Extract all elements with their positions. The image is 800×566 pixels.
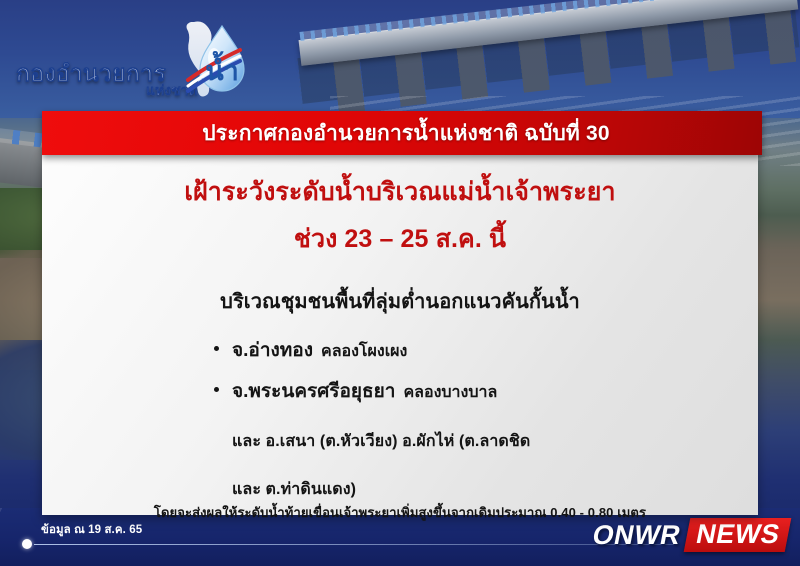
brand-news: NEWS bbox=[684, 518, 792, 552]
onwr-emblem: กองอำนวยการ แห่งชาติ bbox=[14, 22, 254, 108]
footer-dot-icon bbox=[22, 539, 32, 549]
brand-onwr: ONWR bbox=[590, 520, 691, 551]
affected-areas-list: จ.อ่างทอง คลองโผงเผง จ.พระนครศรีอยุธยา ค… bbox=[214, 335, 530, 502]
headline-line-2: ช่วง 23 – 25 ส.ค. นี้ bbox=[294, 219, 506, 259]
continuation-line-2: และ ต.ท่าดินแดง) bbox=[232, 477, 530, 502]
list-item: จ.พระนครศรีอยุธยา คลองบางบาล bbox=[214, 376, 530, 406]
place-name: คลองโผงเผง bbox=[321, 339, 407, 364]
province-name: จ.พระนครศรีอยุธยา bbox=[232, 376, 395, 406]
footer-divider bbox=[34, 544, 674, 545]
subheading: บริเวณชุมชนพื้นที่ลุ่มต่ำนอกแนวคันกั้นน้… bbox=[220, 285, 580, 317]
list-item: จ.อ่างทอง คลองโผงเผง bbox=[214, 335, 530, 365]
data-date-label: ข้อมูล ณ 19 ส.ค. 65 bbox=[41, 521, 142, 539]
announcement-banner: ประกาศกองอำนวยการน้ำแห่งชาติ ฉบับที่ 30 bbox=[42, 111, 762, 155]
onwr-news-logo: ONWR NEWS bbox=[589, 518, 791, 552]
bullet-dot-icon bbox=[214, 387, 219, 392]
bullet-dot-icon bbox=[214, 346, 219, 351]
banner-title: ประกาศกองอำนวยการน้ำแห่งชาติ ฉบับที่ 30 bbox=[202, 117, 609, 150]
water-drop-icon: น้ำ bbox=[164, 18, 256, 110]
content-card: เฝ้าระวังระดับน้ำบริเวณแม่น้ำเจ้าพระยา ช… bbox=[42, 155, 758, 515]
continuation-line-1: และ อ.เสนา (ต.หัวเวียง) อ.ผักไห่ (ต.ลาดช… bbox=[232, 429, 530, 454]
infographic-canvas: กองอำนวยการ แห่งชาติ bbox=[0, 0, 800, 566]
footnote-text: โดยจะส่งผลให้ระดับน้ำท้ายเขื่อนเจ้าพระยา… bbox=[154, 502, 646, 523]
province-name: จ.อ่างทอง bbox=[232, 335, 313, 365]
place-name: คลองบางบาล bbox=[403, 380, 497, 405]
headline-line-1: เฝ้าระวังระดับน้ำบริเวณแม่น้ำเจ้าพระยา bbox=[184, 177, 615, 209]
emblem-drop-word: น้ำ bbox=[205, 50, 239, 86]
emblem-line1: กองอำนวยการ bbox=[16, 56, 166, 92]
